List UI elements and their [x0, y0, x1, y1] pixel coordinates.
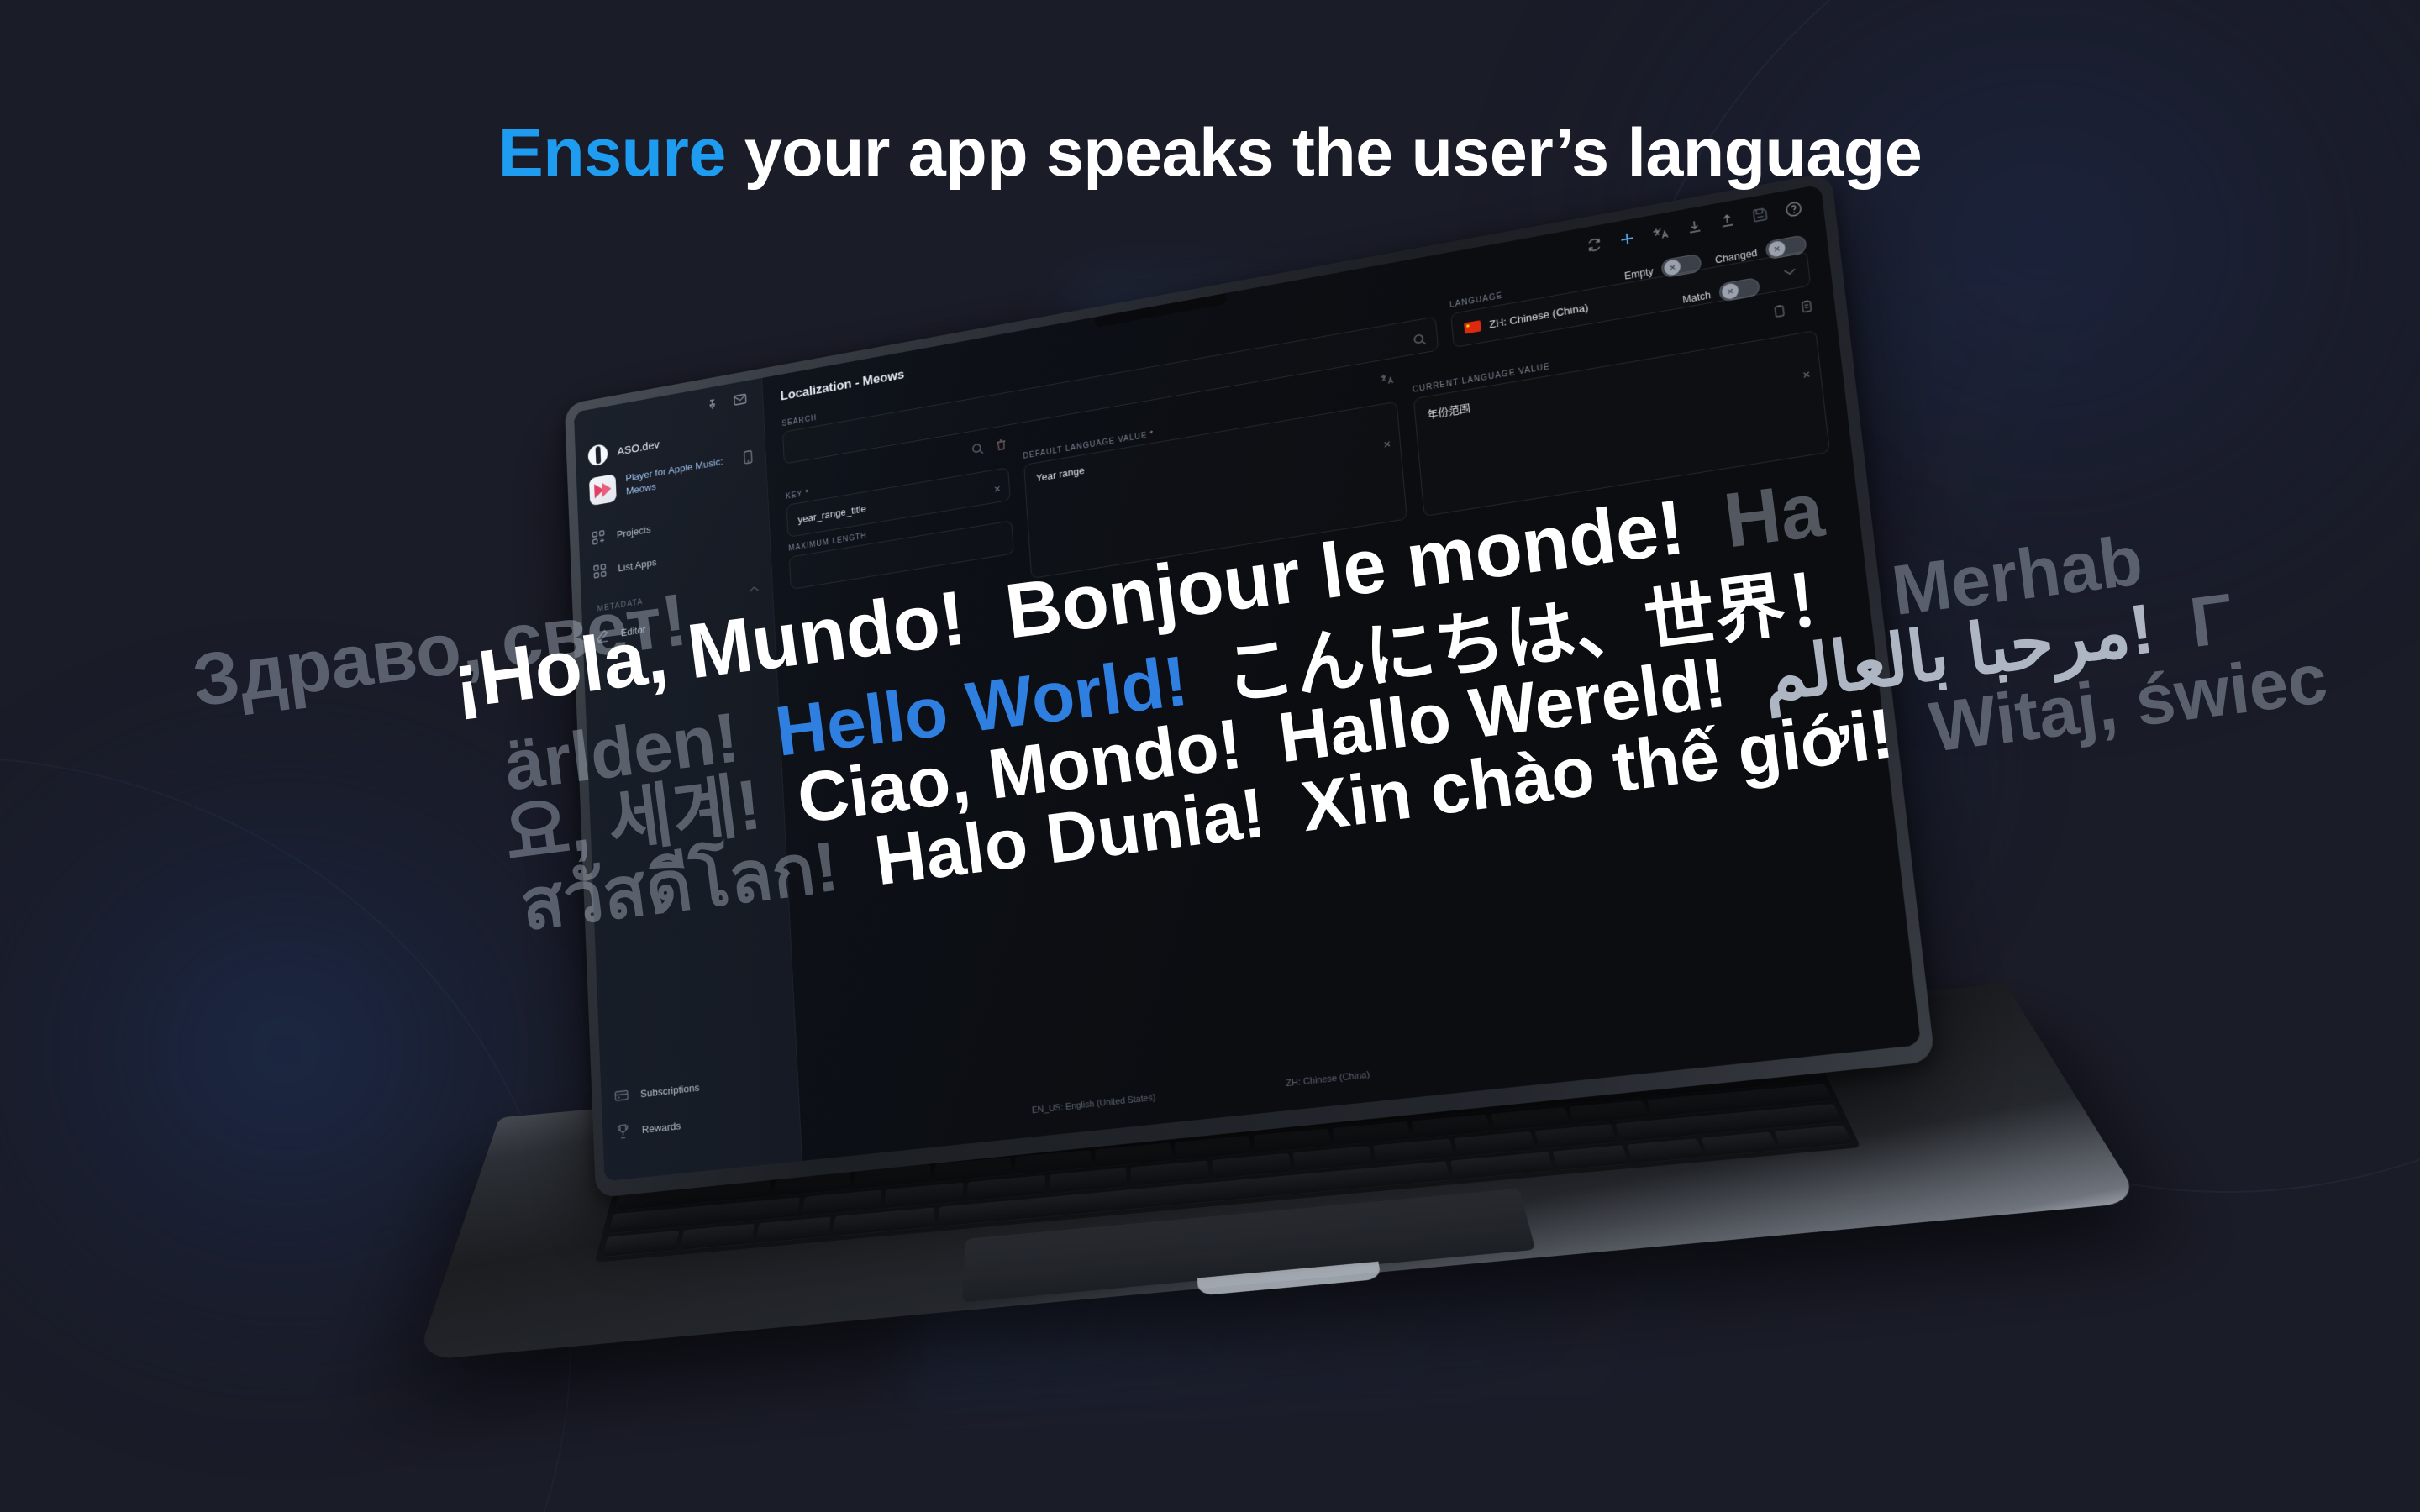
current-language-value-field[interactable]: CURRENT LANGUAGE VALUE 年份范围 ×	[1413, 318, 1831, 517]
mail-icon[interactable]	[734, 393, 747, 408]
page-headline: Ensure your app speaks the user’s langua…	[0, 114, 2420, 192]
pin-icon[interactable]	[707, 398, 718, 414]
trash-icon[interactable]	[995, 438, 1007, 454]
pencil-icon	[595, 627, 609, 644]
keyboard-key	[756, 1217, 831, 1244]
laptop-lid: ASO.dev Player for Apple Music: Meows	[565, 172, 1935, 1198]
keyboard-key	[1412, 1114, 1491, 1139]
refresh-icon[interactable]	[1586, 237, 1602, 256]
aso-logo-icon	[587, 444, 608, 467]
keyboard-key	[967, 1175, 1045, 1201]
keyboard-key	[602, 1231, 679, 1257]
key-label-text: KEY	[786, 491, 802, 501]
trophy-icon	[615, 1123, 630, 1140]
keyboard-key	[1333, 1121, 1411, 1147]
footer-language-default: EN_US: English (United States)	[1032, 1093, 1156, 1116]
sidebar-item-label: Rewards	[642, 1120, 681, 1136]
sidebar-item-label: Editor	[621, 623, 646, 638]
search-icon[interactable]	[971, 442, 984, 458]
translate-icon[interactable]	[1652, 224, 1670, 244]
default-language-value-field[interactable]: DEFAULT LANGUAGE VALUE * Year range ×	[1023, 389, 1407, 579]
download-icon[interactable]	[1686, 218, 1704, 238]
grid-icon	[592, 563, 607, 580]
keyboard-key	[1569, 1100, 1649, 1124]
keyboard-key	[1131, 1161, 1209, 1187]
keyboard-key	[1374, 1139, 1455, 1164]
plus-icon[interactable]	[1618, 229, 1637, 250]
headline-rest: your app speaks the user’s language	[726, 115, 1922, 191]
translate-icon[interactable]	[1380, 370, 1396, 388]
keyboard-key	[1490, 1107, 1570, 1132]
keyboard-key	[1627, 1138, 1703, 1163]
sidebar-item-label: Subscriptions	[640, 1081, 700, 1100]
sidebar-item-label: List Apps	[618, 556, 657, 574]
promo-banner: Ensure your app speaks the user’s langua…	[0, 0, 2420, 1512]
keyboard-key	[1775, 1125, 1853, 1150]
phone-icon[interactable]	[744, 449, 753, 466]
chevron-up-icon[interactable]	[749, 583, 760, 596]
card-icon	[614, 1087, 629, 1104]
save-icon[interactable]	[1751, 207, 1769, 226]
screen-bezel: ASO.dev Player for Apple Music: Meows	[574, 184, 1921, 1181]
clear-icon[interactable]: ×	[1802, 368, 1811, 383]
keyboard-key	[679, 1224, 755, 1251]
headline-accent-word: Ensure	[498, 115, 726, 191]
keyboard-key	[1534, 1124, 1616, 1149]
key-column: KEY * year_range_title × MAXIMUM LENGTH	[785, 438, 1016, 617]
flag-cn-icon	[1464, 320, 1481, 333]
clipboard-icon[interactable]	[1799, 299, 1814, 317]
language-value: ZH: Chinese (China)	[1489, 301, 1589, 330]
search-icon[interactable]	[1413, 332, 1427, 349]
upload-icon[interactable]	[1718, 213, 1736, 232]
sidebar-item-label: Projects	[617, 523, 651, 540]
keyboard-key	[1553, 1145, 1628, 1170]
app-main-panel: Localization - Meows	[762, 184, 1921, 1160]
keyboard-key	[1050, 1168, 1127, 1194]
app-avatar-icon	[589, 474, 617, 506]
keyboard-key	[1455, 1131, 1536, 1157]
app-window: ASO.dev Player for Apple Music: Meows	[574, 184, 1921, 1181]
help-icon[interactable]	[1785, 200, 1803, 220]
clear-icon[interactable]: ×	[1383, 438, 1391, 452]
footer-language-current: ZH: Chinese (China)	[1286, 1070, 1370, 1089]
sidebar-bottom-group: Subscriptions Rewards	[601, 1058, 800, 1152]
keyboard-key	[1095, 1142, 1171, 1168]
copy-icon[interactable]	[1772, 303, 1787, 321]
keyboard-key	[1175, 1136, 1252, 1161]
clear-icon[interactable]: ×	[993, 482, 1001, 496]
keyboard-key	[1212, 1153, 1291, 1179]
brand-name: ASO.dev	[617, 438, 660, 458]
required-marker: *	[805, 489, 809, 497]
required-marker: *	[1149, 430, 1154, 439]
projects-add-icon	[592, 529, 606, 546]
keyboard-key	[1701, 1131, 1778, 1157]
chevron-down-icon[interactable]	[1783, 265, 1797, 279]
laptop-mockup: ASO.dev Player for Apple Music: Meows	[504, 244, 2017, 1436]
keyboard-key	[1293, 1146, 1373, 1172]
keyboard-key	[1254, 1128, 1331, 1153]
